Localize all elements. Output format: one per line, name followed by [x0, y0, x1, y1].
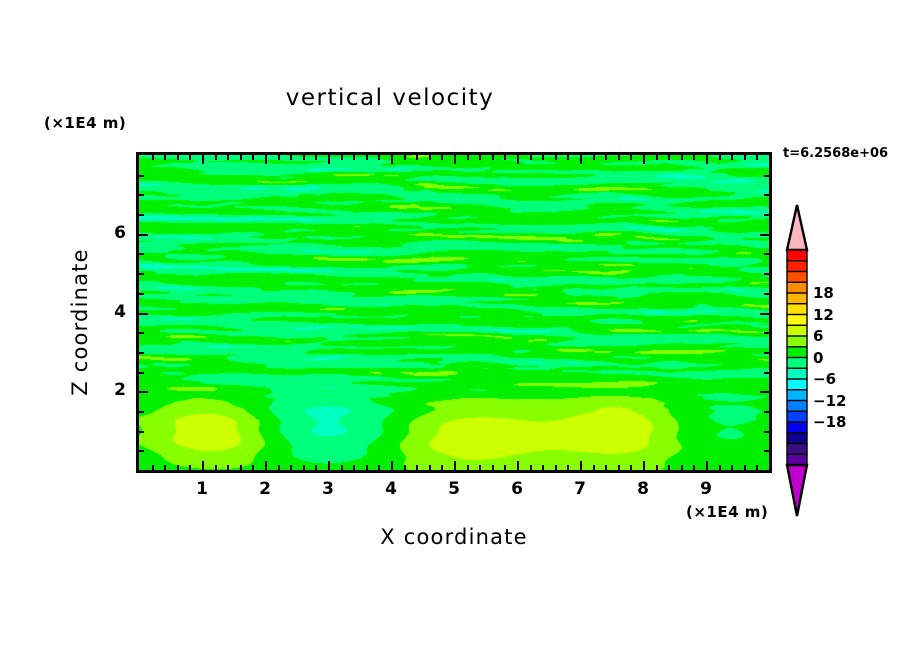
x-tick-top: [328, 155, 330, 164]
colorbar-label: −12: [813, 392, 846, 410]
x-tick: [605, 465, 607, 470]
x-tick-top: [391, 155, 393, 164]
x-tick-top: [164, 155, 166, 160]
x-tick: [580, 461, 582, 470]
x-tick: [555, 465, 557, 470]
x-tick: [517, 461, 519, 470]
x-tick: [719, 465, 721, 470]
x-tick: [668, 465, 670, 470]
x-tick-top: [429, 155, 431, 160]
x-tick: [567, 465, 569, 470]
x-tick: [152, 465, 154, 470]
colorbar: [781, 203, 813, 518]
x-tick: [278, 465, 280, 470]
z-tick: [139, 352, 144, 354]
x-tick-top: [252, 155, 254, 160]
x-axis-units-label: (×1E4 m): [686, 503, 768, 521]
x-axis-title: X coordinate: [136, 525, 772, 549]
contour-field: [139, 155, 769, 470]
colorbar-band: [787, 401, 807, 412]
x-tick: [315, 465, 317, 470]
x-tick: [290, 465, 292, 470]
x-tick-top: [404, 155, 406, 160]
colorbar-label: −18: [813, 413, 846, 431]
x-tick-top: [441, 155, 443, 160]
x-tick-top: [530, 155, 532, 160]
x-tick: [303, 465, 305, 470]
x-tick: [328, 461, 330, 470]
x-tick: [630, 465, 632, 470]
z-tick-right: [764, 352, 769, 354]
x-tick: [744, 465, 746, 470]
x-tick-top: [278, 155, 280, 160]
colorbar-label: −6: [813, 370, 836, 388]
z-tick-right: [764, 293, 769, 295]
colorbar-band: [787, 315, 807, 326]
z-tick: [139, 391, 148, 393]
z-tick: [139, 214, 144, 216]
z-tick: [139, 372, 144, 374]
x-tick-label: 4: [376, 479, 406, 499]
z-tick-right: [764, 273, 769, 275]
colorbar-band: [787, 454, 807, 465]
z-tick-label: 2: [96, 380, 126, 400]
x-tick-top: [744, 155, 746, 160]
z-tick: [139, 450, 144, 452]
z-tick-label: 4: [96, 302, 126, 322]
colorbar-band: [787, 293, 807, 304]
z-tick-right: [764, 372, 769, 374]
x-tick-top: [656, 155, 658, 160]
timestamp-annotation: t=6.2568e+06: [783, 146, 888, 161]
z-tick: [139, 431, 144, 433]
x-tick: [756, 465, 758, 470]
colorbar-band: [787, 368, 807, 379]
x-tick-top: [706, 155, 708, 164]
x-tick: [530, 465, 532, 470]
x-tick-top: [492, 155, 494, 160]
x-tick: [366, 465, 368, 470]
x-tick: [240, 465, 242, 470]
x-tick: [479, 465, 481, 470]
x-tick-top: [504, 155, 506, 160]
x-tick-top: [366, 155, 368, 160]
x-tick-top: [555, 155, 557, 160]
colorbar-band: [787, 347, 807, 358]
x-tick-top: [353, 155, 355, 160]
x-tick: [504, 465, 506, 470]
colorbar-band: [787, 250, 807, 261]
x-tick-top: [215, 155, 217, 160]
z-tick-right: [764, 431, 769, 433]
colorbar-band: [787, 304, 807, 315]
x-tick: [164, 465, 166, 470]
x-tick-top: [479, 155, 481, 160]
x-tick-top: [693, 155, 695, 160]
x-tick: [404, 465, 406, 470]
x-tick: [215, 465, 217, 470]
x-tick-top: [630, 155, 632, 160]
z-axis-title: Z coordinate: [68, 212, 92, 432]
z-tick: [139, 253, 144, 255]
x-tick-top: [189, 155, 191, 160]
x-tick: [227, 465, 229, 470]
colorbar-band: [787, 390, 807, 401]
z-tick: [139, 313, 148, 315]
x-tick-label: 6: [502, 479, 532, 499]
x-tick-top: [202, 155, 204, 164]
z-tick-right: [760, 234, 769, 236]
z-tick: [139, 411, 144, 413]
x-tick-top: [378, 155, 380, 160]
colorbar-band: [787, 358, 807, 369]
figure-canvas: vertical velocity (×1E4 m) (×1E4 m) t=6.…: [0, 0, 904, 654]
x-tick: [341, 465, 343, 470]
x-tick-label: 3: [313, 479, 343, 499]
x-tick-top: [580, 155, 582, 164]
colorbar-band: [787, 282, 807, 293]
x-tick-top: [681, 155, 683, 160]
x-tick: [656, 465, 658, 470]
x-tick-top: [593, 155, 595, 160]
colorbar-swatches: [781, 203, 813, 518]
z-tick-right: [764, 253, 769, 255]
x-tick: [731, 465, 733, 470]
x-tick: [681, 465, 683, 470]
x-tick-top: [756, 155, 758, 160]
x-tick: [706, 461, 708, 470]
x-tick: [189, 465, 191, 470]
z-tick-right: [764, 194, 769, 196]
z-tick: [139, 175, 144, 177]
x-tick: [391, 461, 393, 470]
x-tick-top: [467, 155, 469, 160]
x-tick-top: [416, 155, 418, 160]
x-tick: [265, 461, 267, 470]
z-tick-right: [764, 332, 769, 334]
z-tick-right: [764, 214, 769, 216]
x-tick-top: [668, 155, 670, 160]
z-tick: [139, 332, 144, 334]
x-tick: [643, 461, 645, 470]
colorbar-under-arrow: [787, 465, 807, 516]
colorbar-label: 0: [813, 349, 823, 367]
x-tick: [378, 465, 380, 470]
x-tick: [429, 465, 431, 470]
x-tick-label: 2: [250, 479, 280, 499]
x-tick: [593, 465, 595, 470]
colorbar-label: 6: [813, 327, 823, 345]
x-tick-top: [177, 155, 179, 160]
x-tick-top: [303, 155, 305, 160]
x-tick: [177, 465, 179, 470]
colorbar-band: [787, 379, 807, 390]
x-tick-top: [265, 155, 267, 164]
x-tick: [618, 465, 620, 470]
x-tick-top: [517, 155, 519, 164]
contour-plot-area: [136, 152, 772, 473]
x-tick: [492, 465, 494, 470]
x-tick-top: [643, 155, 645, 164]
x-tick-top: [227, 155, 229, 160]
x-tick-top: [152, 155, 154, 160]
z-tick-right: [764, 450, 769, 452]
z-tick-label: 6: [96, 223, 126, 243]
x-tick-label: 9: [691, 479, 721, 499]
x-tick: [542, 465, 544, 470]
z-tick: [139, 234, 148, 236]
colorbar-band: [787, 422, 807, 433]
z-tick-right: [760, 313, 769, 315]
colorbar-band: [787, 272, 807, 283]
z-tick-right: [760, 391, 769, 393]
x-tick-top: [240, 155, 242, 160]
page-title: vertical velocity: [0, 85, 780, 111]
x-tick-top: [290, 155, 292, 160]
x-tick-top: [542, 155, 544, 160]
colorbar-label: 18: [813, 284, 834, 302]
x-tick-top: [605, 155, 607, 160]
colorbar-band: [787, 433, 807, 444]
x-tick-label: 7: [565, 479, 595, 499]
colorbar-label: 12: [813, 306, 834, 324]
x-tick-top: [731, 155, 733, 160]
x-tick: [693, 465, 695, 470]
z-tick-right: [764, 411, 769, 413]
x-tick-top: [454, 155, 456, 164]
z-axis-units-label: (×1E4 m): [44, 114, 126, 132]
colorbar-band: [787, 261, 807, 272]
x-tick-label: 8: [628, 479, 658, 499]
colorbar-band: [787, 444, 807, 455]
x-tick: [467, 465, 469, 470]
z-tick: [139, 273, 144, 275]
colorbar-band: [787, 411, 807, 422]
x-tick-label: 1: [187, 479, 217, 499]
x-tick-top: [618, 155, 620, 160]
x-tick-top: [341, 155, 343, 160]
colorbar-over-arrow: [787, 205, 807, 250]
x-tick: [416, 465, 418, 470]
x-tick: [353, 465, 355, 470]
colorbar-band: [787, 325, 807, 336]
x-tick: [454, 461, 456, 470]
z-tick: [139, 194, 144, 196]
x-tick-label: 5: [439, 479, 469, 499]
x-tick: [441, 465, 443, 470]
x-tick-top: [315, 155, 317, 160]
x-tick-top: [719, 155, 721, 160]
x-tick: [252, 465, 254, 470]
z-tick: [139, 293, 144, 295]
z-tick-right: [764, 175, 769, 177]
x-tick: [202, 461, 204, 470]
x-tick-top: [567, 155, 569, 160]
colorbar-band: [787, 336, 807, 347]
